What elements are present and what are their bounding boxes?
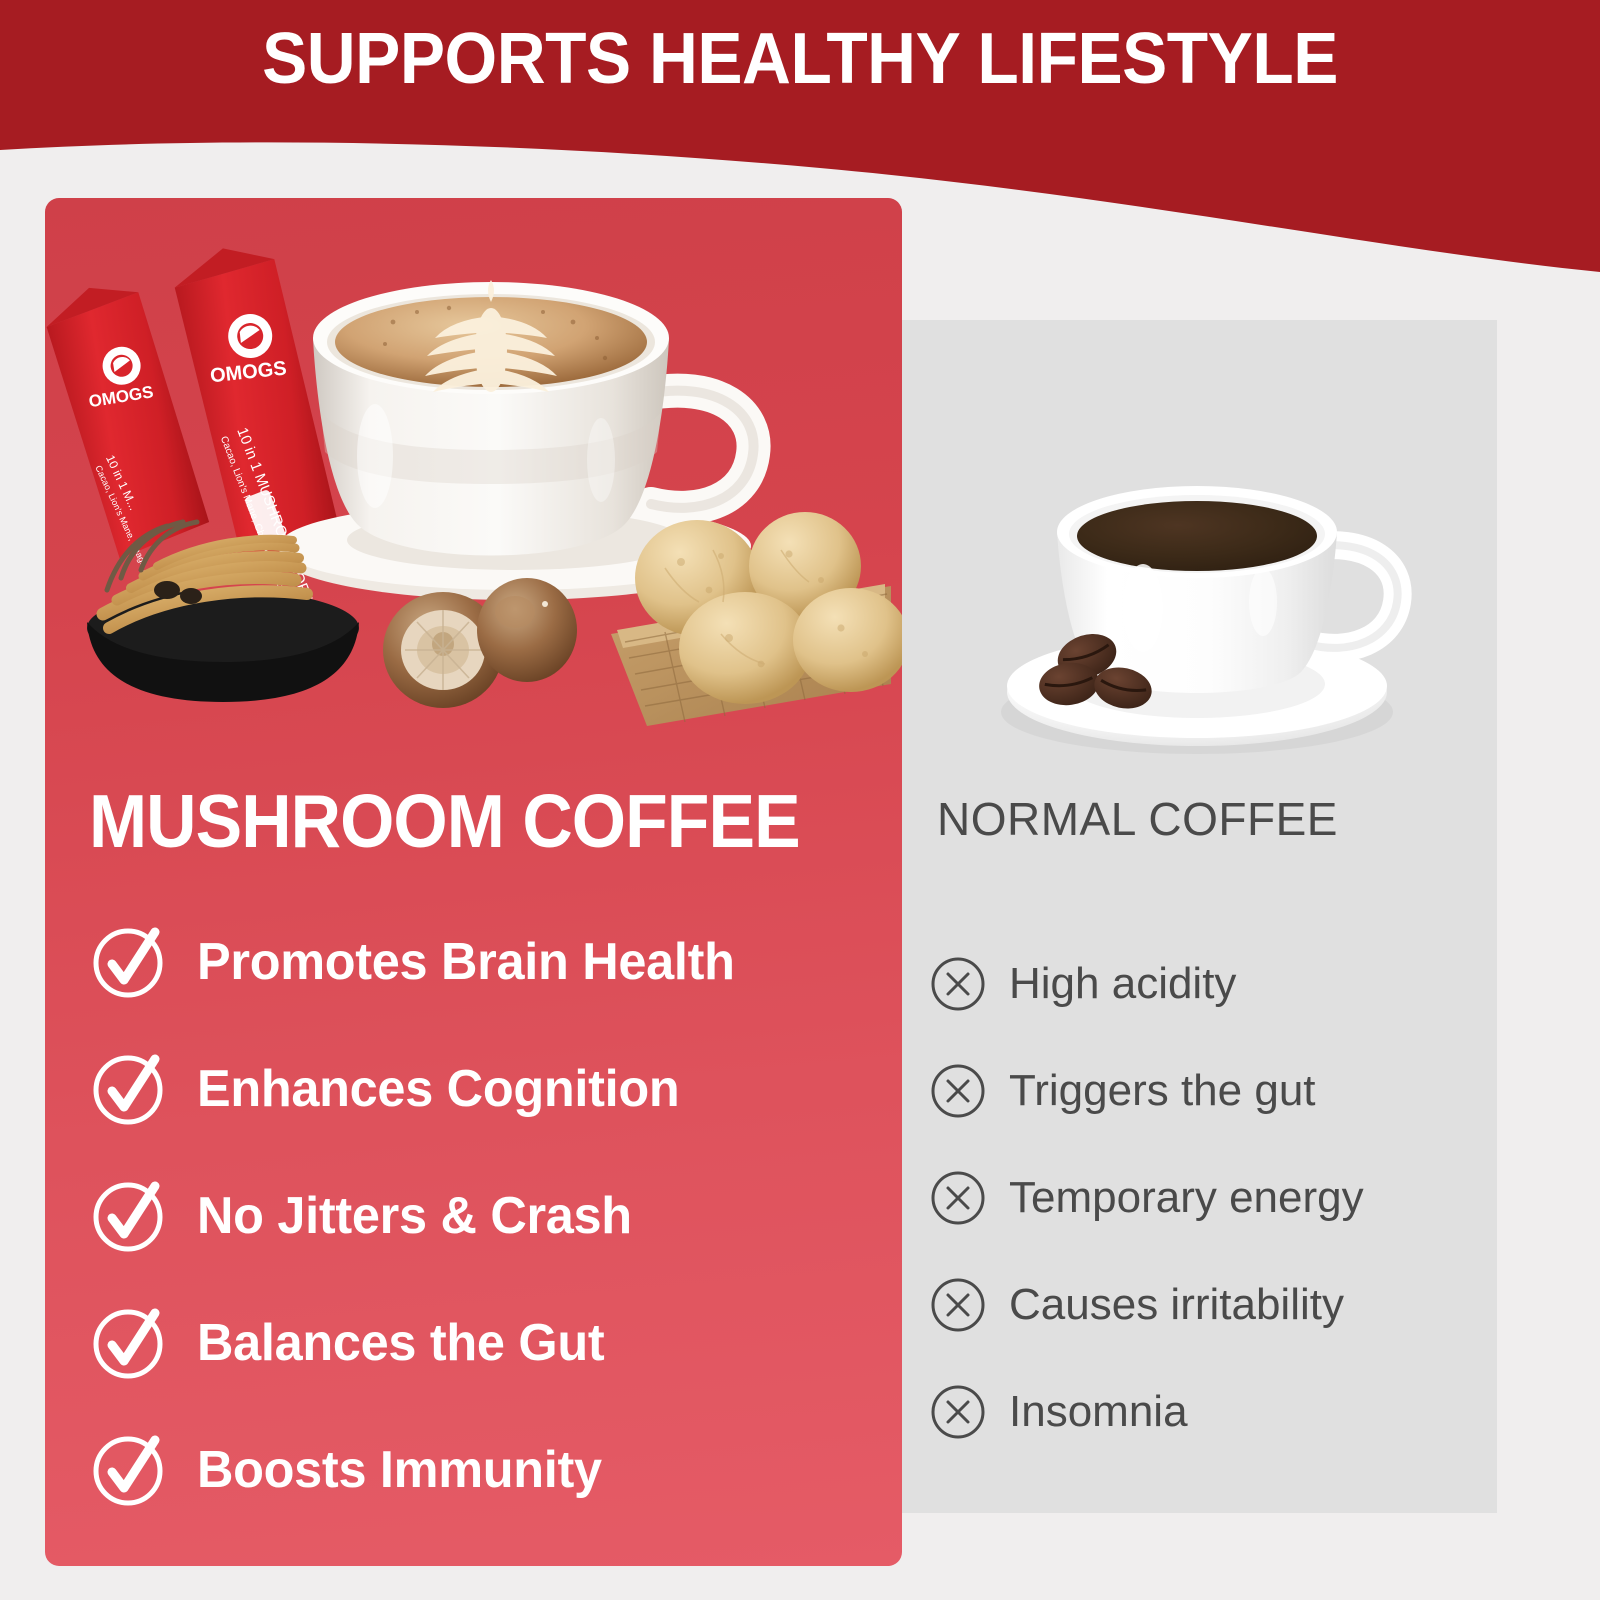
normal-coffee-title: NORMAL COFFEE — [937, 792, 1477, 846]
drawbacks-list: High acidity Triggers the gut — [929, 930, 1489, 1465]
drawback-label: Triggers the gut — [1009, 1066, 1316, 1116]
benefit-label: No Jitters & Crash — [197, 1186, 632, 1246]
x-circle-icon — [929, 1276, 987, 1334]
check-circle-icon — [89, 922, 169, 1002]
mushroom-coffee-panel: OMOGS 10 in 1 M... Cacao, Lion's Mane, C… — [45, 198, 902, 1566]
benefit-label: Balances the Gut — [197, 1313, 604, 1373]
normal-coffee-panel: NORMAL COFFEE High acidity — [897, 320, 1497, 1513]
drawback-label: High acidity — [1009, 959, 1236, 1009]
normal-coffee-photo — [897, 340, 1497, 790]
product-comparison-infographic: SUPPORTS HEALTHY LIFESTYLE — [0, 0, 1600, 1600]
page-title: SUPPORTS HEALTHY LIFESTYLE — [48, 18, 1552, 100]
x-circle-icon — [929, 1169, 987, 1227]
benefits-list: Promotes Brain Health Enhances Cognition — [89, 898, 889, 1533]
drawback-label: Temporary energy — [1009, 1173, 1364, 1223]
benefit-label: Enhances Cognition — [197, 1059, 679, 1119]
check-circle-icon — [89, 1430, 169, 1510]
list-item: High acidity — [929, 930, 1489, 1037]
x-circle-icon — [929, 1383, 987, 1441]
drawback-label: Causes irritability — [1009, 1280, 1344, 1330]
list-item: Promotes Brain Health — [89, 898, 889, 1025]
benefit-label: Boosts Immunity — [197, 1440, 602, 1500]
check-circle-icon — [89, 1303, 169, 1383]
list-item: Insomnia — [929, 1358, 1489, 1465]
check-circle-icon — [89, 1176, 169, 1256]
mushroom-coffee-title: MUSHROOM COFFEE — [89, 778, 800, 864]
list-item: Temporary energy — [929, 1144, 1489, 1251]
list-item: Triggers the gut — [929, 1037, 1489, 1144]
list-item: Causes irritability — [929, 1251, 1489, 1358]
drawback-label: Insomnia — [1009, 1387, 1188, 1437]
benefit-label: Promotes Brain Health — [197, 932, 735, 992]
check-circle-icon — [89, 1049, 169, 1129]
list-item: Enhances Cognition — [89, 1025, 889, 1152]
list-item: Balances the Gut — [89, 1279, 889, 1406]
list-item: No Jitters & Crash — [89, 1152, 889, 1279]
x-circle-icon — [929, 955, 987, 1013]
x-circle-icon — [929, 1062, 987, 1120]
list-item: Boosts Immunity — [89, 1406, 889, 1533]
